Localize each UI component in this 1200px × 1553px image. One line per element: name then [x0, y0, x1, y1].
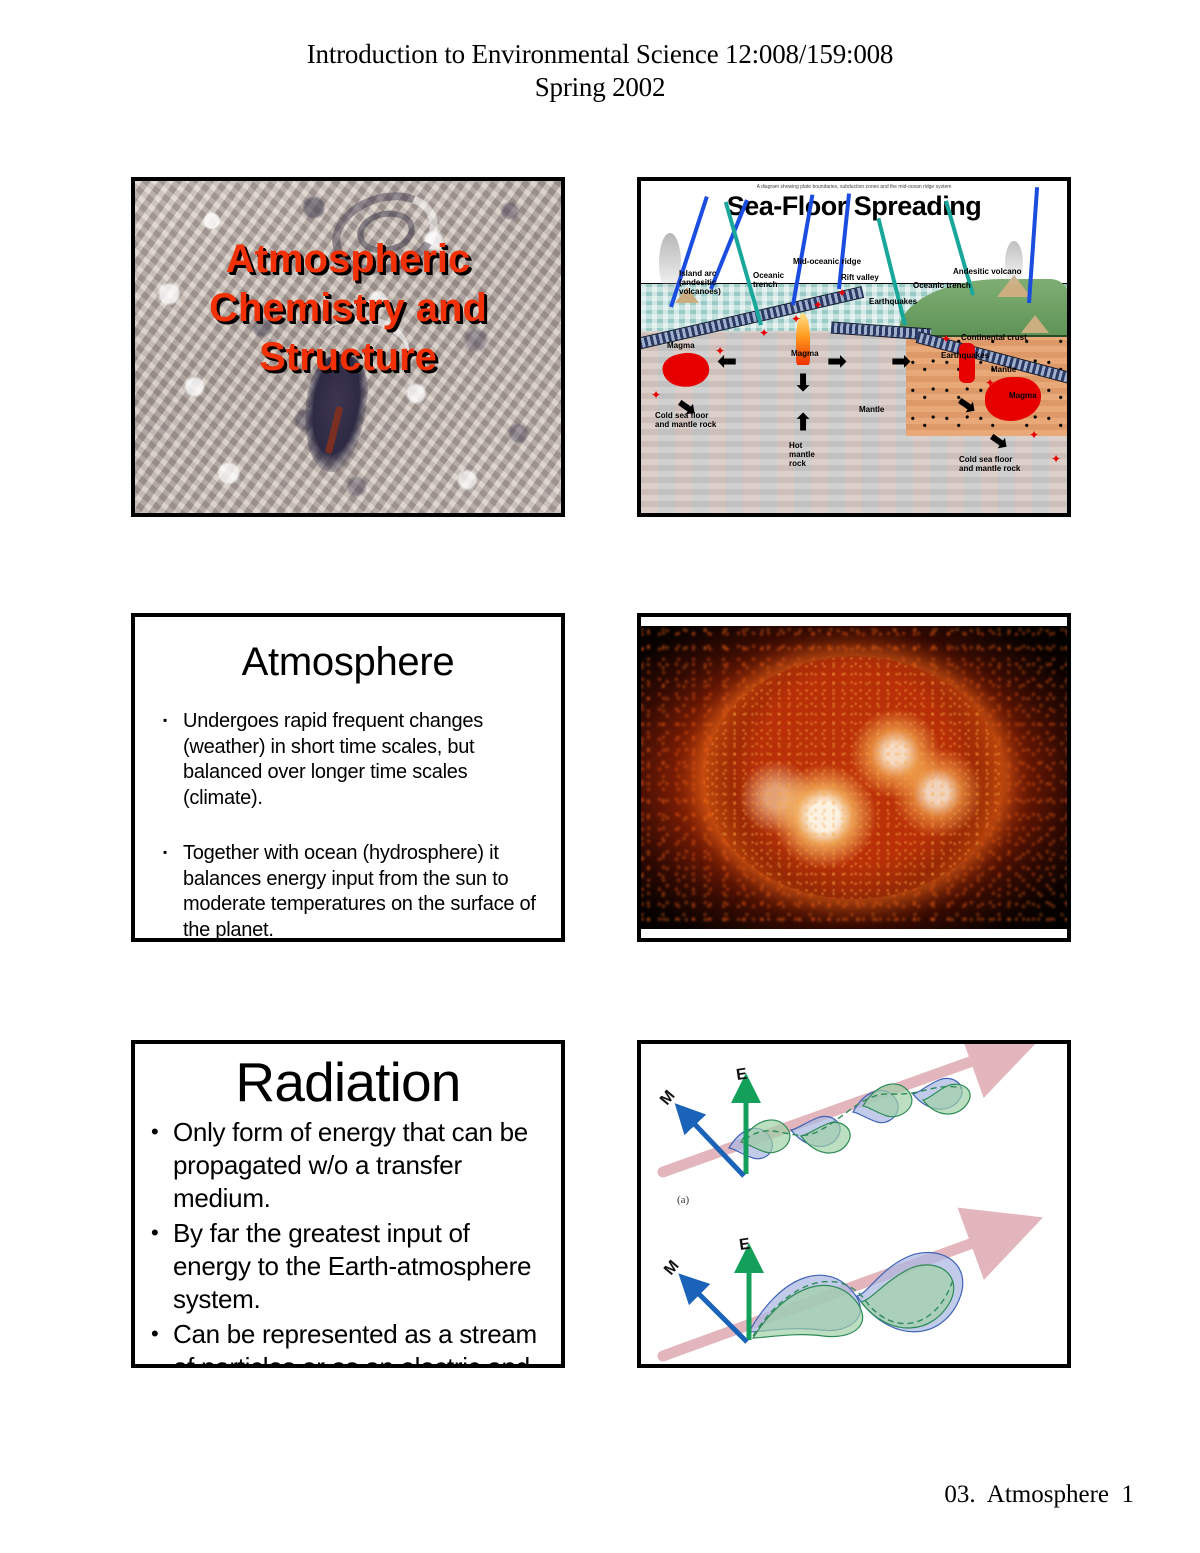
label-hot-mantle-rock: Hot mantle rock: [789, 441, 815, 468]
sun-black-field: [641, 626, 1067, 929]
upwelling-arrow-2: ⬇: [793, 409, 813, 433]
page-footer: 03. Atmosphere 1: [944, 1481, 1134, 1509]
sun-xray-image: [641, 617, 1067, 938]
label-cold-sea-floor-right: Cold sea floor and mantle rock: [959, 455, 1020, 473]
list-item: By far the greatest input of energy to t…: [151, 1217, 547, 1316]
radiation-content: Radiation Only form of energy that can b…: [135, 1044, 561, 1364]
upwelling-arrow-1: ⬇: [793, 371, 813, 395]
label-M-bottom: M: [661, 1257, 683, 1278]
earthquake-star: ✦: [1051, 453, 1061, 465]
image-bottom-margin: [641, 929, 1067, 938]
em-wave-figure: E M E M (a): [641, 1044, 1067, 1364]
em-wave-panel-short: E M: [657, 1058, 981, 1176]
earthquake-star: ✦: [813, 299, 823, 311]
slide-sun-image: [637, 613, 1071, 942]
em-wave-svg: E M E M: [641, 1044, 1067, 1364]
earthquake-star: ✦: [985, 377, 995, 389]
atmosphere-bullet-list: Undergoes rapid frequent changes (weathe…: [161, 709, 539, 942]
list-item: Only form of energy that can be propagat…: [151, 1116, 547, 1215]
label-E-top: E: [735, 1066, 748, 1084]
label-oceanic-trench-right: Oceanic trench: [913, 281, 971, 290]
secondary-volcano-shape: [1021, 315, 1049, 333]
label-magma-left: Magma: [667, 341, 695, 350]
slide-em-wave-diagram: E M E M (a): [637, 1040, 1071, 1368]
atmosphere-content: Atmosphere Undergoes rapid frequent chan…: [135, 617, 561, 938]
earthquake-star: ✦: [1029, 429, 1039, 441]
earthquake-star: ✦: [671, 373, 681, 385]
sea-floor-spreading-figure: A diagram showing plate boundaries, subd…: [641, 181, 1067, 513]
label-magma-center: Magma: [791, 349, 819, 358]
title-line-1: Atmospheric: [135, 235, 561, 284]
title-line-3: Structure: [135, 333, 561, 382]
label-island-arc: Island arc (andesitic volcanoes): [679, 269, 721, 296]
title-line-2: Chemistry and: [135, 284, 561, 333]
label-andesitic-volcano: Andesitic volcano: [953, 267, 1021, 276]
earthquake-star: ✦: [715, 345, 725, 357]
earthquake-star: ✦: [651, 389, 661, 401]
label-cold-sea-floor-left: Cold sea floor and mantle rock: [655, 411, 716, 429]
label-E-bottom: E: [738, 1236, 751, 1254]
earthquake-star: ✦: [759, 327, 769, 339]
header-line-2: Spring 2002: [0, 71, 1200, 104]
label-earthquakes-continent: Earthquakes: [941, 351, 989, 360]
slide-title: Atmospheric Chemistry and Structure: [131, 177, 565, 517]
solar-disk: [705, 656, 1003, 898]
presentation-title: Atmospheric Chemistry and Structure: [135, 235, 561, 382]
list-item: Together with ocean (hydrosphere) it bal…: [161, 841, 539, 942]
slide-heading-radiation: Radiation: [135, 1044, 561, 1112]
slide-sea-floor-spreading: A diagram showing plate boundaries, subd…: [637, 177, 1071, 517]
earthquake-star: ✦: [941, 333, 951, 345]
header-line-1: Introduction to Environmental Science 12…: [0, 38, 1200, 71]
label-rift-valley: Rift valley: [841, 273, 879, 282]
list-item: Undergoes rapid frequent changes (weathe…: [161, 709, 539, 811]
label-mantle-center: Mantle: [859, 405, 884, 414]
slide-atmosphere: Atmosphere Undergoes rapid frequent chan…: [131, 613, 565, 942]
figure-microtext: A diagram showing plate boundaries, subd…: [649, 184, 1059, 191]
earthquake-star: ✦: [693, 357, 703, 369]
label-mid-oceanic-ridge: Mid-oceanic ridge: [793, 257, 861, 266]
convection-arrow-right-2: ➡: [891, 349, 911, 373]
earthquake-star: ✦: [1007, 403, 1017, 415]
image-top-margin: [641, 617, 1067, 626]
figure-stage: ⬅ ➡ ➡ ⬇ ⬇ ➡ ➡ ➡ ✦ ✦ ✦ ✦ ✦ ✦ ✦ ✦ ✦ ✦ ✦ ✦ …: [641, 227, 1067, 513]
label-continental-crust: Continental crust: [961, 333, 1027, 342]
earthquake-star: ✦: [791, 313, 801, 325]
volcano-plume-right: [1005, 241, 1023, 285]
label-earthquakes-ocean: Earthquakes: [869, 297, 917, 306]
label-M-top: M: [657, 1087, 679, 1108]
label-magma-right: Magma: [1009, 391, 1037, 400]
slide-heading-atmosphere: Atmosphere: [135, 617, 561, 685]
propagation-axis-arrow-top: [663, 1058, 981, 1172]
figure-caption-a: (a): [677, 1194, 689, 1206]
list-item: Can be represented as a stream of partic…: [151, 1318, 547, 1368]
slide-radiation: Radiation Only form of energy that can b…: [131, 1040, 565, 1368]
page-header: Introduction to Environmental Science 12…: [0, 38, 1200, 104]
em-wave-panel-long: E M: [661, 1236, 981, 1356]
label-oceanic-trench-left: Oceanic trench: [753, 271, 784, 289]
label-mantle-right: Mantle: [991, 365, 1016, 374]
convection-arrow-right-1: ➡: [827, 349, 847, 373]
radiation-bullet-list: Only form of energy that can be propagat…: [151, 1116, 547, 1368]
